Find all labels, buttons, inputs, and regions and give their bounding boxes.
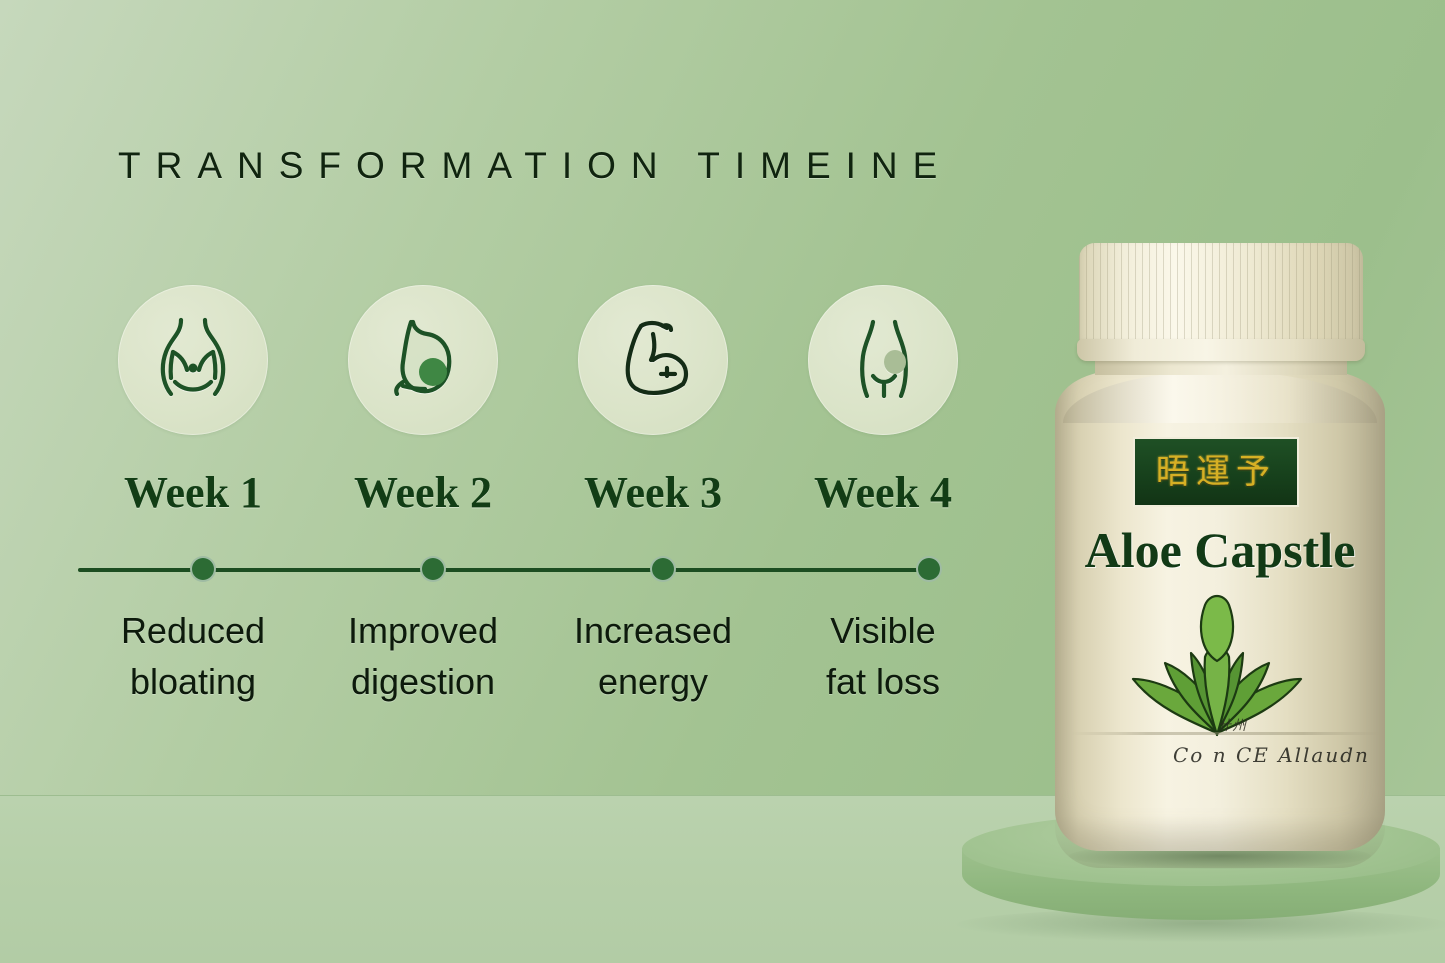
timeline-descriptions: Reduced bloating Improved digestion Incr… <box>78 605 1038 707</box>
timeline-dot-week-2[interactable] <box>420 556 446 582</box>
desc-line: Increased <box>538 605 768 656</box>
product-bottle[interactable]: 晤運予 Aloe Capstle 卄州 <box>1055 243 1385 868</box>
timeline-dot-week-1[interactable] <box>190 556 216 582</box>
label-banner: 晤運予 <box>1133 437 1299 507</box>
page-title: TRANSFORMATION TIMEINE <box>118 145 952 187</box>
bloated-belly-icon <box>118 285 268 435</box>
desc-line: bloating <box>78 656 308 707</box>
timeline-steps: Week 1 Week 2 <box>78 285 1038 518</box>
timeline-step-week-2[interactable]: Week 2 <box>308 285 538 518</box>
timeline-desc-week-1: Reduced bloating <box>78 605 308 707</box>
week-label: Week 4 <box>814 467 952 518</box>
timeline-dot-week-3[interactable] <box>650 556 676 582</box>
timeline-desc-week-3: Increased energy <box>538 605 768 707</box>
week-label: Week 3 <box>584 467 722 518</box>
desc-line: digestion <box>308 656 538 707</box>
brand-name: Aloe Capstle <box>1061 521 1379 579</box>
bottle-bottom-shading <box>1055 816 1385 868</box>
desc-line: fat loss <box>768 656 998 707</box>
timeline-step-week-4[interactable]: Week 4 <box>768 285 998 518</box>
timeline-desc-week-4: Visible fat loss <box>768 605 998 707</box>
timeline-dot-week-4[interactable] <box>916 556 942 582</box>
timeline-step-week-1[interactable]: Week 1 <box>78 285 308 518</box>
product-timeline-scene: TRANSFORMATION TIMEINE <box>0 0 1445 963</box>
timeline-step-week-3[interactable]: Week 3 <box>538 285 768 518</box>
transformation-timeline: Week 1 Week 2 <box>78 285 1038 715</box>
label-seam <box>1071 732 1381 735</box>
week-label: Week 2 <box>354 467 492 518</box>
desc-line: Visible <box>768 605 998 656</box>
timeline-axis <box>78 566 930 572</box>
banner-text: 晤運予 <box>1156 455 1276 489</box>
timeline-desc-week-2: Improved digestion <box>308 605 538 707</box>
desc-line: Reduced <box>78 605 308 656</box>
flexed-bicep-icon <box>578 285 728 435</box>
label-script-bottom: Co n CE Allaudn <box>1173 743 1370 767</box>
week-label: Week 1 <box>124 467 262 518</box>
desc-line: Improved <box>308 605 538 656</box>
desc-line: energy <box>538 656 768 707</box>
slim-waist-icon <box>808 285 958 435</box>
stomach-icon <box>348 285 498 435</box>
ribbed-cap[interactable] <box>1079 243 1363 351</box>
bottle-label: 晤運予 Aloe Capstle 卄州 <box>1061 425 1379 805</box>
cap-lip <box>1077 339 1365 361</box>
